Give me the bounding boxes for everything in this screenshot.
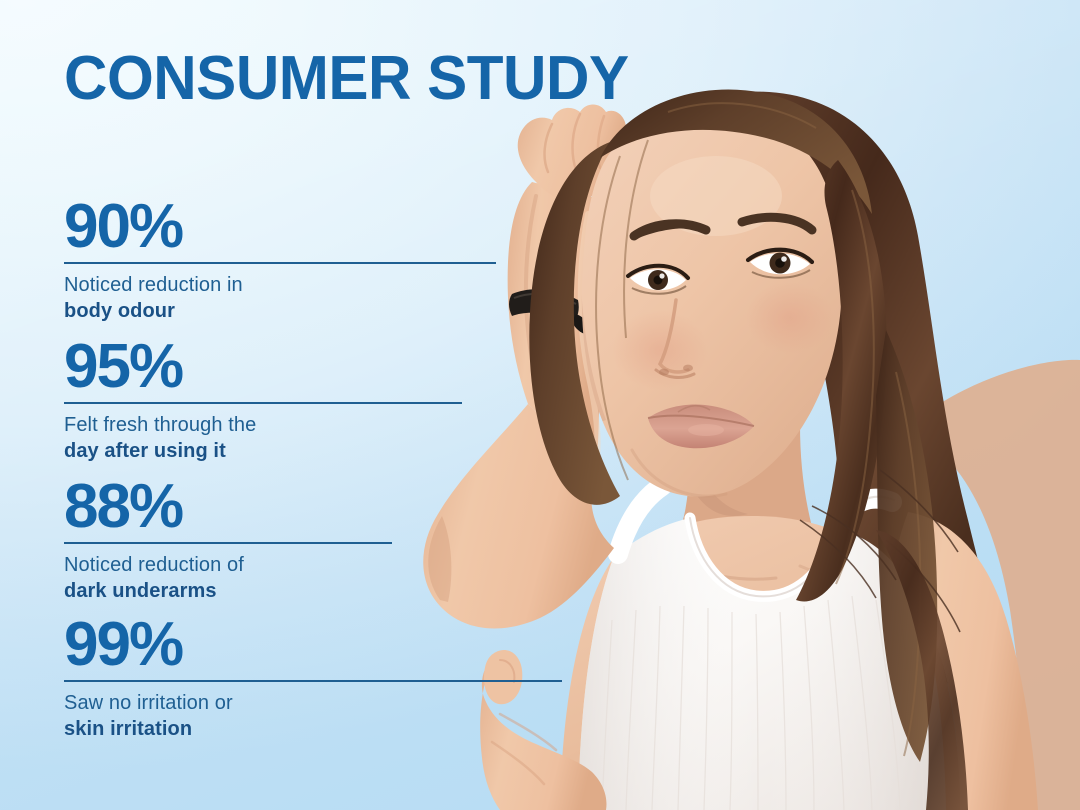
stat-block: 90% Noticed reduction in body odour [64, 198, 496, 324]
stat-divider [64, 262, 496, 264]
stat-divider [64, 542, 392, 544]
stat-caption-line2: body odour [64, 299, 496, 325]
page-title: CONSUMER STUDY [64, 48, 629, 110]
stat-value: 95% [64, 338, 462, 395]
stat-caption-line2: dark underarms [64, 579, 392, 605]
stat-divider [64, 402, 462, 404]
stat-value: 90% [64, 198, 496, 255]
stat-block: 95% Felt fresh through the day after usi… [64, 338, 462, 464]
stat-block: 99% Saw no irritation or skin irritation [64, 616, 562, 742]
poster-content: CONSUMER STUDY 90% Noticed reduction in … [0, 0, 1080, 810]
stat-caption-line1: Saw no irritation or [64, 691, 562, 717]
stat-caption-line1: Noticed reduction of [64, 553, 392, 579]
stat-caption-line1: Noticed reduction in [64, 273, 496, 299]
stat-caption-line2: day after using it [64, 439, 462, 465]
stat-divider [64, 680, 562, 682]
stat-value: 88% [64, 478, 392, 535]
stat-value: 99% [64, 616, 562, 673]
stat-block: 88% Noticed reduction of dark underarms [64, 478, 392, 604]
stat-caption-line2: skin irritation [64, 717, 562, 743]
stat-caption-line1: Felt fresh through the [64, 413, 462, 439]
poster-canvas: CONSUMER STUDY 90% Noticed reduction in … [0, 0, 1080, 810]
